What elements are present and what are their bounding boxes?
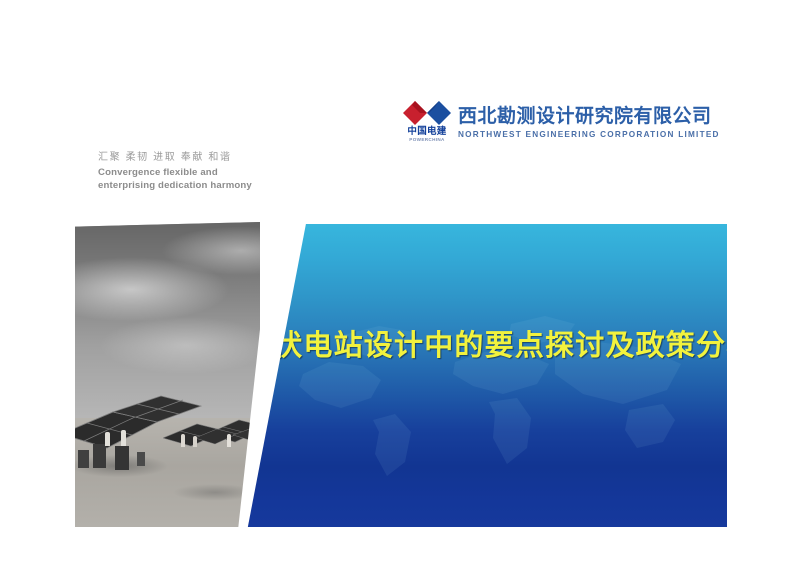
tagline-en-line2: enterprising dedication harmony (98, 180, 318, 193)
slide-title: 光伏电站设计中的要点探讨及政策分析 (243, 322, 727, 364)
panel-post (137, 452, 145, 466)
world-map-texture-icon (243, 224, 727, 527)
company-name-cn: 西北勘测设计研究院有限公司 (458, 106, 720, 128)
solar-plant-photo (75, 222, 260, 527)
worker-figure (121, 430, 126, 446)
company-header: 中国电建 POWERCHINA 西北勘测设计研究院有限公司 NORTHWEST … (398, 98, 688, 154)
worker-figure (181, 434, 185, 447)
tagline-en-line1: Convergence flexible and (98, 167, 318, 180)
tagline-cn: 汇聚 柔韧 进取 奉献 和谐 (98, 150, 318, 165)
panel-post (78, 450, 89, 468)
company-names: 西北勘测设计研究院有限公司 NORTHWEST ENGINEERING CORP… (458, 106, 720, 140)
panel-post (93, 444, 106, 468)
hero-band: 光伏电站设计中的要点探讨及政策分析 (70, 218, 730, 530)
title-panel: 光伏电站设计中的要点探讨及政策分析 (243, 224, 727, 527)
presentation-slide: 中国电建 POWERCHINA 西北勘测设计研究院有限公司 NORTHWEST … (0, 0, 800, 566)
diamond-logo-icon (402, 100, 452, 126)
worker-figure (105, 432, 110, 446)
corporate-tagline: 汇聚 柔韧 进取 奉献 和谐 Convergence flexible and … (98, 150, 318, 192)
worker-figure (227, 434, 231, 447)
tagline-en: Convergence flexible and enterprising de… (98, 167, 318, 192)
powerchina-logo: 中国电建 POWERCHINA (398, 100, 456, 150)
worker-figure (193, 436, 197, 447)
company-name-en: NORTHWEST ENGINEERING CORPORATION LIMITE… (458, 130, 720, 140)
panel-post (115, 446, 129, 470)
title-panel-surface: 光伏电站设计中的要点探讨及政策分析 (243, 224, 727, 527)
logo-brand-cn: 中国电建 (398, 126, 456, 137)
logo-brand-en: POWERCHINA (398, 137, 456, 143)
